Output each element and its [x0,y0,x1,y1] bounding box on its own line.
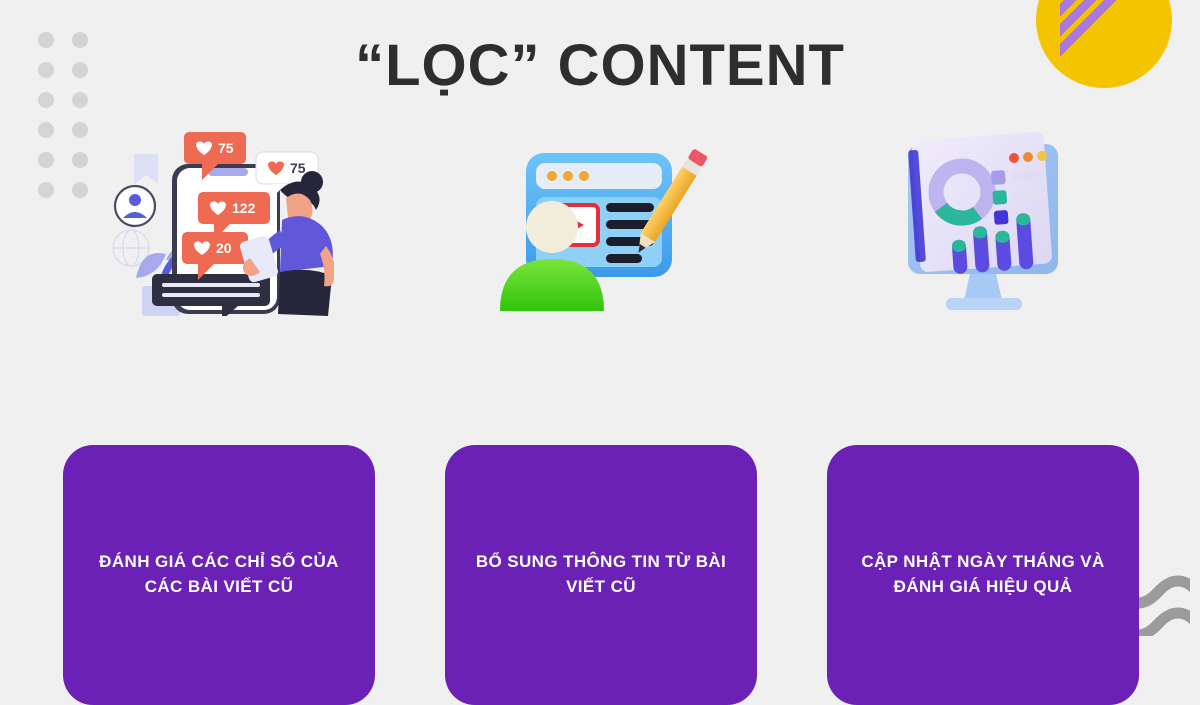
column-2: BỔ SUNG THÔNG TIN TỪ BÀI VIẾT CŨ [445,120,757,316]
columns-container: 75 75 122 [0,0,1200,630]
card-2-label: BỔ SUNG THÔNG TIN TỪ BÀI VIẾT CŨ [471,550,731,599]
svg-text:75: 75 [218,140,234,156]
analytics-dashboard-illustration [827,120,1139,316]
social-engagement-illustration: 75 75 122 [63,120,375,316]
card-3[interactable]: CẬP NHẬT NGÀY THÁNG VÀ ĐÁNH GIÁ HIỆU QUẢ [827,445,1139,705]
svg-text:122: 122 [232,200,256,216]
svg-text:20: 20 [216,240,232,256]
card-3-label: CẬP NHẬT NGÀY THÁNG VÀ ĐÁNH GIÁ HIỆU QUẢ [853,550,1113,599]
card-1[interactable]: ĐÁNH GIÁ CÁC CHỈ SỐ CỦA CÁC BÀI VIẾT CŨ [63,445,375,705]
column-3: CẬP NHẬT NGÀY THÁNG VÀ ĐÁNH GIÁ HIỆU QUẢ [827,120,1139,316]
column-1: 75 75 122 [63,120,375,316]
svg-text:75: 75 [290,160,306,176]
card-2[interactable]: BỔ SUNG THÔNG TIN TỪ BÀI VIẾT CŨ [445,445,757,705]
card-1-label: ĐÁNH GIÁ CÁC CHỈ SỐ CỦA CÁC BÀI VIẾT CŨ [89,550,349,599]
content-editing-illustration [445,120,757,316]
